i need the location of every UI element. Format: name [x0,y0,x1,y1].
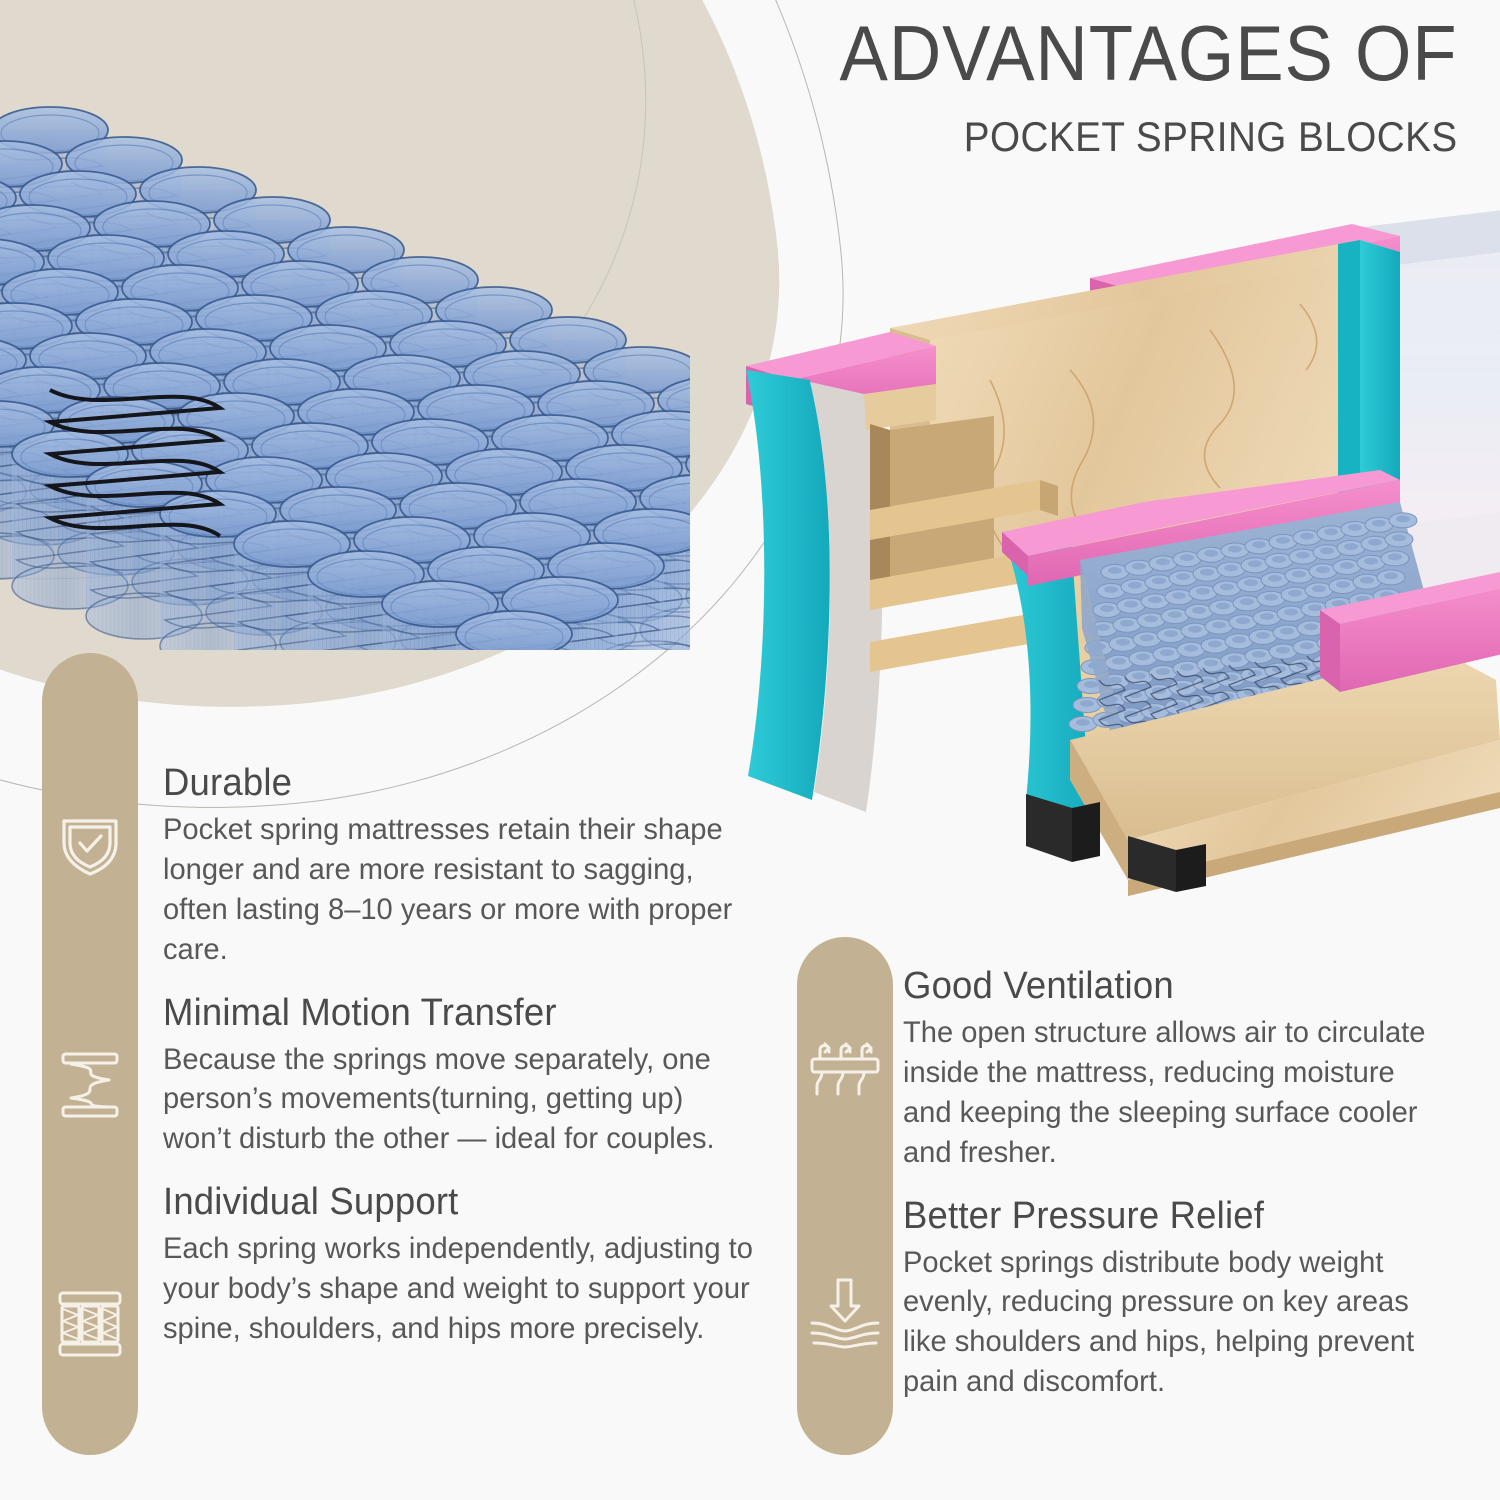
advantage-block-minimal-motion-transfer: Minimal Motion Transfer Because the spri… [163,992,773,1160]
advantage-body: Pocket springs distribute body weight ev… [903,1243,1446,1403]
mattress-springs-icon [57,1291,123,1357]
advantage-body: Because the springs move separately, one… [163,1040,755,1160]
advantage-title: Durable [163,762,749,805]
page-title: ADVANTAGES OF [840,14,1458,92]
advantage-body: Each spring works independently, adjusti… [163,1229,755,1349]
advantage-block-durable: Durable Pocket spring mattresses retain … [163,762,773,970]
header: ADVANTAGES OF POCKET SPRING BLOCKS [793,14,1458,158]
left-advantages-column: Durable Pocket spring mattresses retain … [163,762,773,1371]
advantage-title: Better Pressure Relief [903,1195,1441,1238]
advantage-title: Individual Support [163,1181,749,1224]
advantage-body: Pocket spring mattresses retain their sh… [163,810,755,970]
airflow-icon [809,1035,881,1097]
right-icon-rail [797,937,893,1455]
right-advantages-column: Good Ventilation The open structure allo… [903,965,1463,1424]
pocket-spring-block-illustration [0,90,690,650]
infographic-canvas: ADVANTAGES OF POCKET SPRING BLOCKS [0,0,1500,1500]
advantage-title: Good Ventilation [903,965,1441,1008]
advantage-block-individual-support: Individual Support Each spring works ind… [163,1181,773,1349]
advantage-body: The open structure allows air to circula… [903,1013,1446,1173]
page-subtitle: POCKET SPRING BLOCKS [847,116,1458,158]
advantage-title: Minimal Motion Transfer [163,992,749,1035]
coil-spring-icon [59,1051,121,1119]
advantage-block-good-ventilation: Good Ventilation The open structure allo… [903,965,1463,1173]
left-icon-rail [42,653,138,1455]
mattress-cutaway-illustration [740,180,1500,910]
pressure-relief-icon [809,1277,881,1351]
advantage-block-better-pressure-relief: Better Pressure Relief Pocket springs di… [903,1195,1463,1403]
shield-check-icon [59,813,121,877]
